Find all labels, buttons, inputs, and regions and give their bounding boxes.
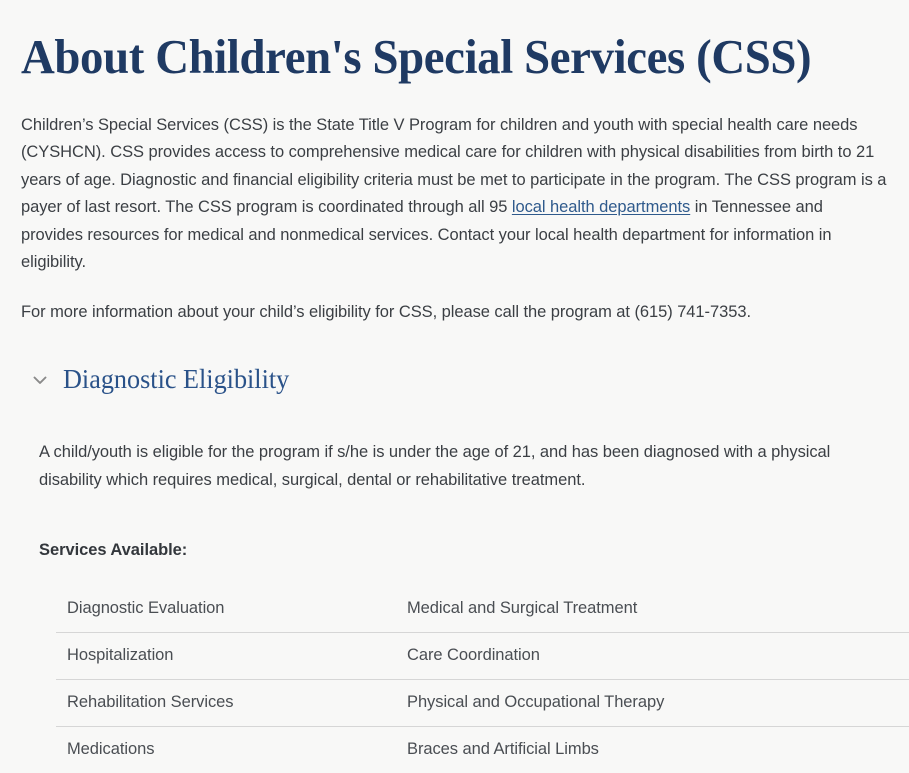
table-cell: Braces and Artificial Limbs bbox=[407, 727, 909, 773]
accordion-title: Diagnostic Eligibility bbox=[63, 363, 289, 397]
services-table: Diagnostic Evaluation Medical and Surgic… bbox=[56, 586, 909, 773]
accordion-header-diagnostic-eligibility[interactable]: Diagnostic Eligibility bbox=[21, 361, 889, 401]
local-health-departments-link[interactable]: local health departments bbox=[512, 198, 690, 216]
services-table-body: Diagnostic Evaluation Medical and Surgic… bbox=[56, 586, 909, 773]
intro-paragraph-1: Children’s Special Services (CSS) is the… bbox=[21, 112, 889, 277]
chevron-down-icon[interactable] bbox=[29, 369, 51, 391]
page-root: About Children's Special Services (CSS) … bbox=[0, 0, 909, 732]
diagnostic-eligibility-accordion: Diagnostic Eligibility A child/youth is … bbox=[21, 361, 889, 773]
intro-paragraph-2: For more information about your child’s … bbox=[21, 299, 889, 327]
page-title: About Children's Special Services (CSS) bbox=[21, 0, 850, 84]
table-cell: Medical and Surgical Treatment bbox=[407, 586, 909, 633]
table-row: Rehabilitation Services Physical and Occ… bbox=[56, 680, 909, 727]
table-row: Diagnostic Evaluation Medical and Surgic… bbox=[56, 586, 909, 633]
table-row: Medications Braces and Artificial Limbs bbox=[56, 727, 909, 773]
table-row: Hospitalization Care Coordination bbox=[56, 633, 909, 680]
eligibility-description: A child/youth is eligible for the progra… bbox=[39, 439, 839, 494]
table-cell: Rehabilitation Services bbox=[56, 680, 407, 727]
table-cell: Physical and Occupational Therapy bbox=[407, 680, 909, 727]
table-cell: Care Coordination bbox=[407, 633, 909, 680]
table-cell: Medications bbox=[56, 727, 407, 773]
intro-section: Children’s Special Services (CSS) is the… bbox=[21, 84, 889, 327]
table-cell: Hospitalization bbox=[56, 633, 407, 680]
services-available-heading: Services Available: bbox=[39, 494, 889, 560]
table-cell: Diagnostic Evaluation bbox=[56, 586, 407, 633]
accordion-panel: A child/youth is eligible for the progra… bbox=[21, 401, 889, 773]
